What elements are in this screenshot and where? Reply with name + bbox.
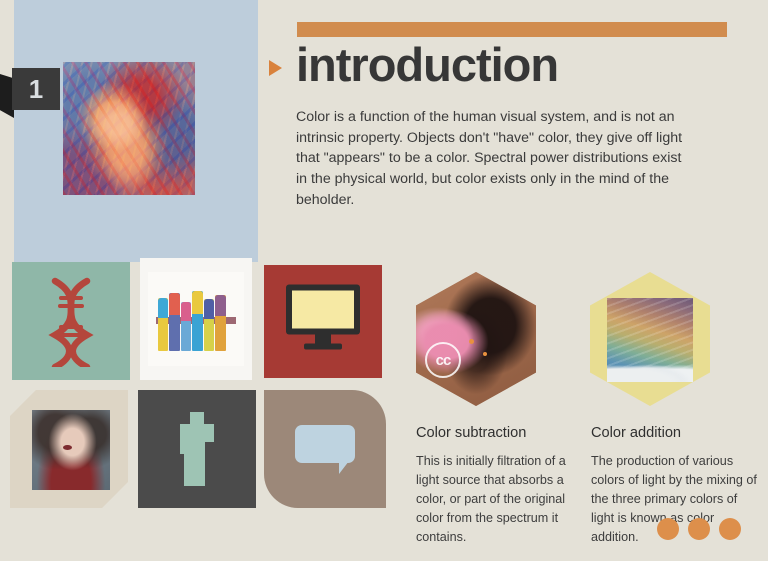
creative-commons-icon: cc bbox=[425, 342, 461, 378]
hero-painting-layer-highlight bbox=[63, 62, 195, 195]
title-accent-bar bbox=[297, 22, 727, 37]
butterfly-photo bbox=[416, 272, 536, 406]
lipsticks-photo bbox=[148, 272, 244, 366]
monitor-icon bbox=[286, 284, 360, 349]
color-dot bbox=[719, 518, 741, 540]
rainbow-sky-photo bbox=[607, 298, 693, 382]
color-addition-hexagon[interactable] bbox=[590, 272, 710, 406]
dna-helix-icon bbox=[39, 275, 103, 367]
butterfly-spot bbox=[469, 339, 474, 344]
portrait-tile[interactable] bbox=[10, 390, 128, 508]
lipstick bbox=[192, 291, 203, 351]
lipstick bbox=[169, 293, 180, 351]
hero-painting-image bbox=[63, 62, 195, 195]
lipsticks-tile[interactable] bbox=[140, 258, 252, 380]
color-dot bbox=[657, 518, 679, 540]
slide-number: 1 bbox=[12, 68, 60, 110]
page-title: introduction bbox=[296, 41, 558, 88]
lipstick bbox=[204, 299, 215, 351]
color-addition-heading: Color addition bbox=[591, 425, 681, 441]
portrait-photo bbox=[32, 410, 110, 490]
color-subtraction-body: This is initially filtration of a light … bbox=[416, 452, 566, 546]
slide-canvas: 1 introduction Color is a function of th… bbox=[0, 0, 768, 561]
color-addition-dots bbox=[657, 518, 741, 540]
speech-bubble-icon bbox=[295, 425, 355, 463]
person-icon bbox=[171, 410, 223, 488]
dna-tile[interactable] bbox=[12, 262, 130, 380]
color-subtraction-hexagon[interactable]: cc bbox=[416, 272, 536, 406]
lipstick bbox=[158, 298, 169, 351]
lipstick bbox=[181, 302, 192, 351]
bubble-tile[interactable] bbox=[264, 390, 386, 508]
monitor-tile[interactable] bbox=[264, 265, 382, 378]
person-tile[interactable] bbox=[138, 390, 256, 508]
intro-paragraph: Color is a function of the human visual … bbox=[296, 107, 696, 211]
color-subtraction-heading: Color subtraction bbox=[416, 425, 526, 441]
slide-number-badge: 1 bbox=[0, 68, 60, 110]
lipstick bbox=[215, 295, 226, 351]
color-dot bbox=[688, 518, 710, 540]
play-arrow-icon bbox=[269, 60, 282, 76]
